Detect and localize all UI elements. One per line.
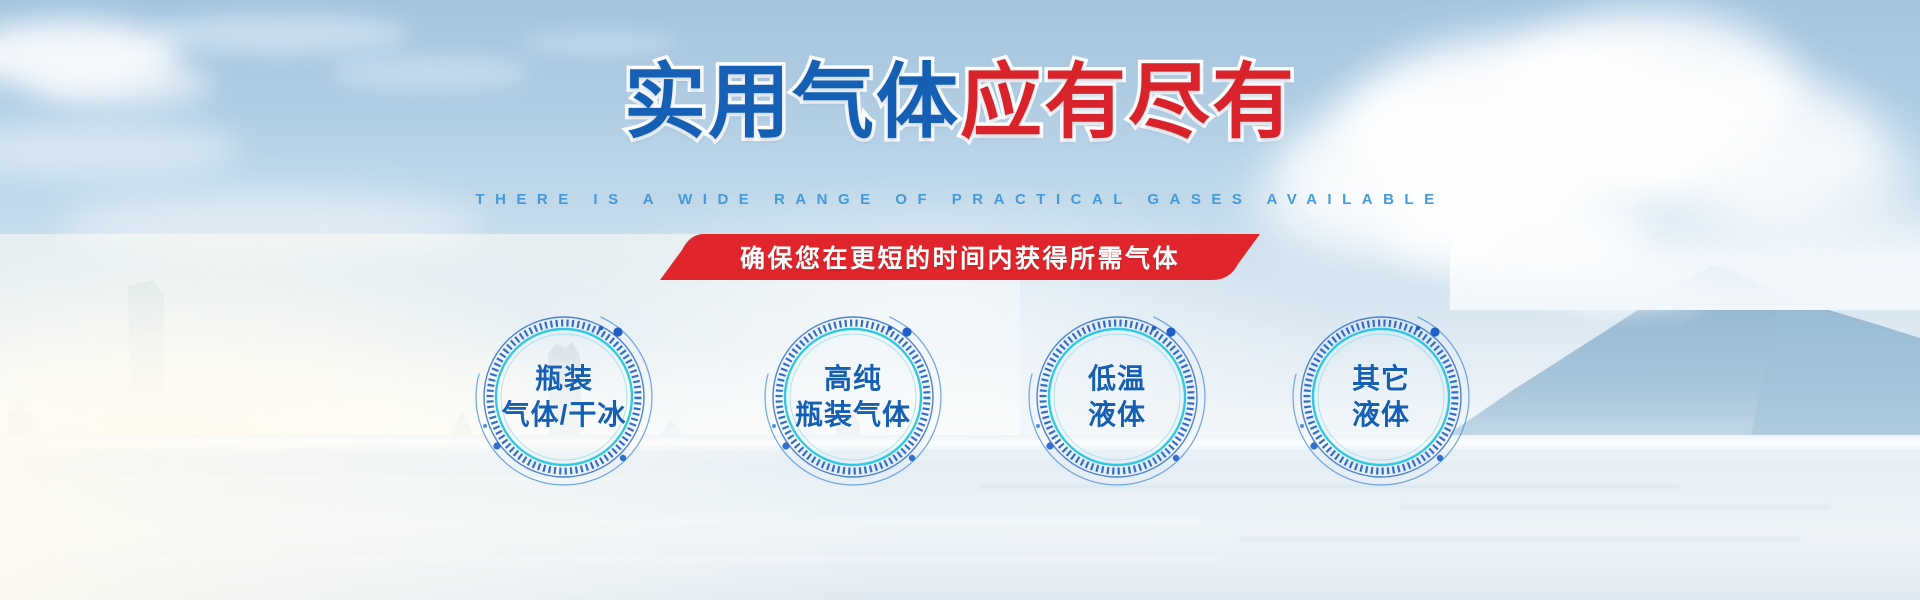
- hero-banner: 实用气体应有尽有 THERE IS A WIDE RANGE OF PRACTI…: [0, 0, 1920, 600]
- water-ripple: [1240, 538, 1800, 540]
- category-circle-1[interactable]: 瓶装 气体/干冰: [473, 306, 655, 488]
- category-circle-1-label: 瓶装 气体/干冰: [473, 306, 655, 488]
- cloud-wisp-icon: [150, 14, 410, 54]
- category-circle-3[interactable]: 低温 液体: [1026, 306, 1208, 488]
- category-circle-2-line2: 瓶装气体: [795, 399, 911, 431]
- category-circle-1-line1: 瓶装: [535, 363, 593, 395]
- banner-ribbon: 确保您在更短的时间内获得所需气体: [660, 234, 1260, 280]
- category-circle-2-label: 高纯 瓶装气体: [762, 306, 944, 488]
- category-circle-2-line1: 高纯: [824, 363, 882, 395]
- category-circle-3-line1: 低温: [1088, 363, 1146, 395]
- water-ripple: [1400, 506, 1830, 508]
- cloud-wisp-icon: [520, 30, 680, 56]
- category-circle-1-line2: 气体/干冰: [502, 399, 627, 431]
- category-circle-2[interactable]: 高纯 瓶装气体: [762, 306, 944, 488]
- ribbon-label: 确保您在更短的时间内获得所需气体: [660, 234, 1260, 280]
- category-circle-3-line2: 液体: [1088, 399, 1146, 431]
- headline-part-red: 应有尽有: [960, 57, 1296, 148]
- category-circle-3-label: 低温 液体: [1026, 306, 1208, 488]
- banner-headline: 实用气体应有尽有: [0, 62, 1920, 144]
- category-circle-4-label: 其它 液体: [1290, 306, 1472, 488]
- category-circle-4-line2: 液体: [1352, 399, 1410, 431]
- category-circle-4[interactable]: 其它 液体: [1290, 306, 1472, 488]
- category-circle-group: 瓶装 气体/干冰 高纯 瓶装气体: [0, 300, 1920, 500]
- banner-subtitle-english: THERE IS A WIDE RANGE OF PRACTICAL GASES…: [0, 191, 1920, 208]
- category-circle-4-line1: 其它: [1352, 363, 1410, 395]
- headline-part-blue: 实用气体: [624, 57, 960, 148]
